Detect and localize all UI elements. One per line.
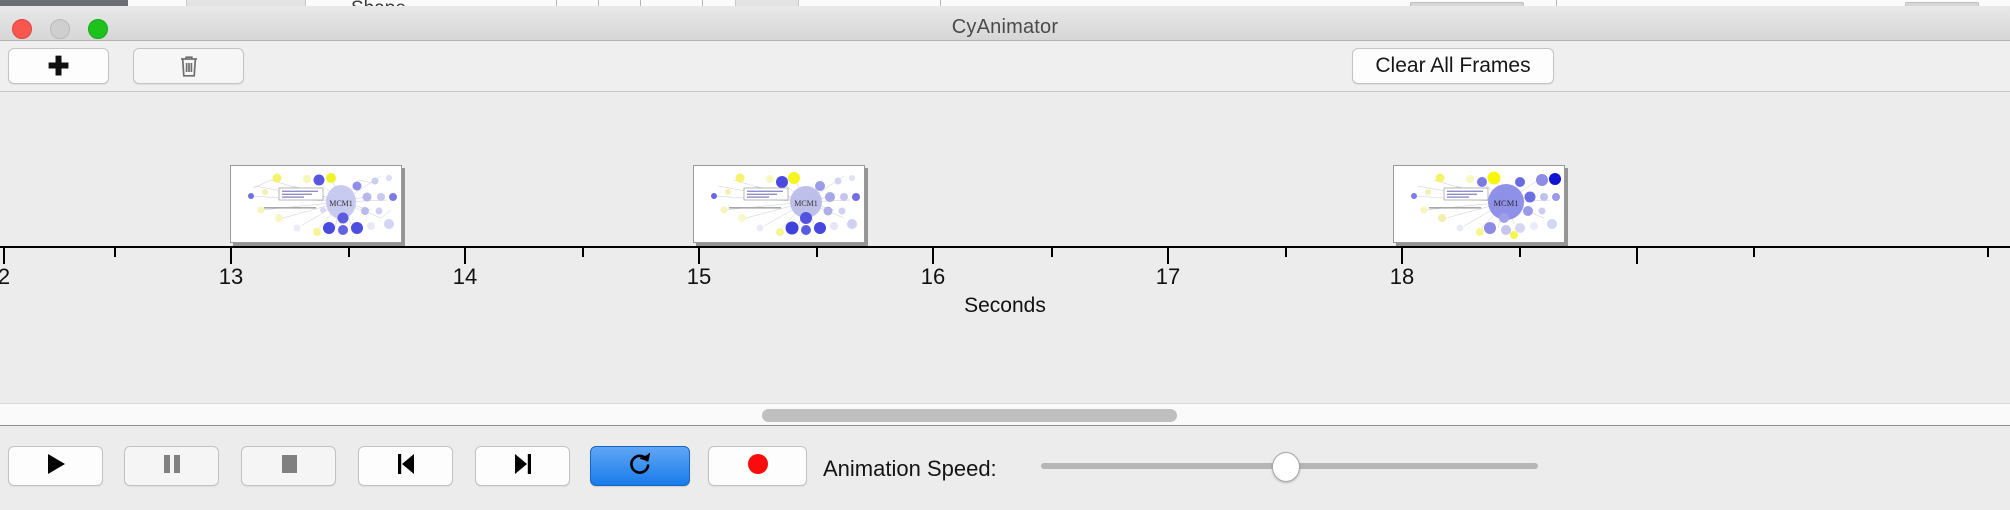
axis-tick-minor bbox=[1519, 248, 1521, 257]
axis-title: Seconds bbox=[0, 294, 2010, 318]
hub-node-label: MCM1 bbox=[1493, 198, 1518, 208]
title-bar: CyAnimator bbox=[0, 6, 2010, 41]
timeline-scrollbar-thumb[interactable] bbox=[762, 409, 1177, 422]
stop-button[interactable] bbox=[241, 446, 336, 486]
play-icon bbox=[45, 452, 67, 481]
timeline-axis bbox=[0, 246, 2010, 248]
animation-speed-label: Animation Speed: bbox=[823, 456, 997, 482]
stop-icon bbox=[279, 453, 299, 480]
axis-tick-minor bbox=[1987, 248, 1989, 257]
axis-tick-minor bbox=[816, 248, 818, 257]
axis-tick-minor bbox=[1753, 248, 1755, 257]
axis-tick-major bbox=[230, 248, 232, 264]
axis-tick-minor bbox=[114, 248, 116, 257]
skip-back-icon bbox=[395, 452, 417, 481]
keyframe-thumbnail[interactable]: MCM1 bbox=[1393, 165, 1565, 243]
axis-tick-minor bbox=[582, 248, 584, 257]
axis-tick-label: 13 bbox=[219, 264, 243, 290]
axis-tick-minor bbox=[1285, 248, 1287, 257]
keyframe-thumbnail[interactable]: MCM1 bbox=[693, 165, 865, 243]
hub-node-label: MCM1 bbox=[329, 199, 353, 208]
hub-node-label: MCM1 bbox=[794, 199, 818, 208]
cyanimator-window: Shape CyAnimator ✚ bbox=[0, 0, 2010, 510]
axis-tick-label: 15 bbox=[687, 264, 711, 290]
play-button[interactable] bbox=[8, 446, 103, 486]
skip-to-start-button[interactable] bbox=[358, 446, 453, 486]
axis-tick-major bbox=[464, 248, 466, 264]
axis-tick-label: 18 bbox=[1390, 264, 1414, 290]
axis-tick-major bbox=[3, 248, 5, 264]
window-title: CyAnimator bbox=[0, 16, 2010, 39]
axis-tick-major bbox=[1636, 248, 1638, 264]
trash-icon bbox=[178, 54, 200, 78]
timeline-panel[interactable]: MCM1 bbox=[0, 92, 2010, 403]
skip-to-end-button[interactable] bbox=[475, 446, 570, 486]
animation-speed-slider-knob[interactable] bbox=[1272, 452, 1300, 482]
record-button[interactable] bbox=[708, 446, 807, 486]
plus-icon: ✚ bbox=[48, 53, 70, 79]
record-icon bbox=[746, 452, 770, 481]
playback-control-bar: Animation Speed: bbox=[0, 425, 2010, 510]
add-frame-button[interactable]: ✚ bbox=[8, 48, 109, 84]
clear-all-frames-label: Clear All Frames bbox=[1375, 54, 1530, 78]
timeline-scrollbar-track[interactable] bbox=[0, 403, 2010, 425]
toolbar: ✚ Clear All Frames bbox=[0, 41, 2010, 92]
axis-tick-major bbox=[698, 248, 700, 264]
axis-tick-label: 17 bbox=[1156, 264, 1180, 290]
loop-button[interactable] bbox=[590, 446, 690, 486]
axis-tick-minor bbox=[1051, 248, 1053, 257]
pause-icon bbox=[162, 452, 182, 481]
axis-tick-minor bbox=[348, 248, 350, 257]
pause-button[interactable] bbox=[124, 446, 219, 486]
skip-forward-icon bbox=[512, 452, 534, 481]
axis-tick-major bbox=[1167, 248, 1169, 264]
axis-tick-label: 14 bbox=[453, 264, 477, 290]
clear-all-frames-button[interactable]: Clear All Frames bbox=[1352, 48, 1554, 84]
delete-frame-button[interactable] bbox=[133, 48, 244, 84]
axis-tick-label: 2 bbox=[0, 264, 10, 290]
keyframe-thumbnail[interactable]: MCM1 bbox=[230, 165, 402, 243]
axis-tick-major bbox=[1401, 248, 1403, 264]
loop-icon bbox=[627, 451, 653, 482]
axis-tick-major bbox=[932, 248, 934, 264]
axis-tick-label: 16 bbox=[921, 264, 945, 290]
